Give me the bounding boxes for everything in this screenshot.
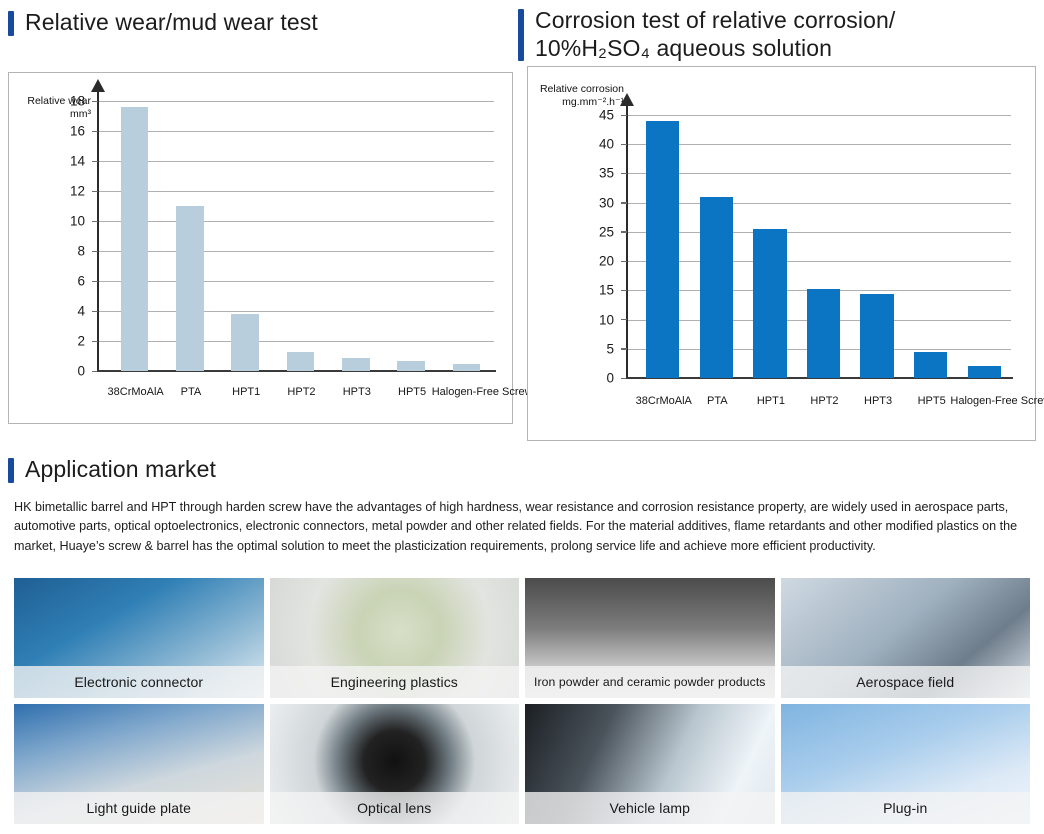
gridline [628,203,1011,204]
tile-caption: Optical lens [270,792,520,824]
gridline [99,281,494,282]
corrosion-section-heading: Corrosion test of relative corrosion/ 10… [518,6,1038,62]
y-tick-mark [621,115,627,116]
application-tile[interactable]: Engineering plastics [270,578,520,698]
y-axis-arrow-icon [620,93,634,106]
bar [453,364,481,371]
bar [342,358,370,372]
tile-caption: Plug-in [781,792,1031,824]
relative-corrosion-chart-panel: Relative corrosion mg.mm⁻².h⁻¹ 051015202… [527,66,1036,441]
accent-bar [518,9,524,61]
gridline [99,101,494,102]
y-tick-mark [621,144,627,145]
gridline [99,161,494,162]
y-tick-mark [92,341,98,342]
y-tick-label: 0 [77,364,85,379]
wear-section-heading: Relative wear/mud wear test [8,8,318,36]
bar [231,314,259,371]
bar [860,294,893,378]
y-tick-label: 14 [70,154,85,169]
wear-plot-area: 024681012141618 [97,101,494,371]
bar [807,289,840,378]
page-root: Relative wear/mud wear test Corrosion te… [0,0,1044,834]
gridline [99,341,494,342]
gridline [628,115,1011,116]
y-tick-mark [92,131,98,132]
tile-caption: Engineering plastics [270,666,520,698]
gridline [628,144,1011,145]
tile-caption: Light guide plate [14,792,264,824]
application-tile[interactable]: Plug-in [781,704,1031,824]
accent-bar [8,11,14,36]
y-tick-label: 10 [599,312,614,327]
y-tick-mark [621,173,627,174]
accent-bar [8,458,14,483]
application-tile-grid: Electronic connectorEngineering plastics… [14,578,1030,824]
bar [287,352,315,372]
corrosion-yaxis-label: Relative corrosion mg.mm⁻².h⁻¹ [528,83,624,109]
y-tick-mark [92,101,98,102]
y-tick-mark [92,221,98,222]
y-tick-label: 6 [77,274,85,289]
y-tick-mark [621,202,627,203]
relative-wear-chart-panel: Relative wear mm³ 024681012141618 38CrMo… [8,72,513,424]
corrosion-title-block: Corrosion test of relative corrosion/ 10… [535,6,895,62]
application-tile[interactable]: Electronic connector [14,578,264,698]
x-category-label: Halogen-Free Screw [432,386,503,398]
market-description: HK bimetallic barrel and HPT through har… [14,498,1032,556]
tile-caption: Vehicle lamp [525,792,775,824]
y-tick-label: 20 [599,254,614,269]
y-tick-mark [92,311,98,312]
gridline [99,251,494,252]
corrosion-title-line1: Corrosion test of relative corrosion/ [535,6,895,34]
x-category-label: Halogen-Free Screw [950,395,1020,407]
y-tick-mark [92,161,98,162]
gridline [99,131,494,132]
wear-title-text: Relative wear/mud wear test [25,8,318,36]
bar [397,361,425,371]
y-axis-arrow-icon [91,79,105,92]
gridline [628,261,1011,262]
y-tick-label: 10 [70,214,85,229]
y-tick-mark [621,261,627,262]
tile-caption: Electronic connector [14,666,264,698]
application-tile[interactable]: Iron powder and ceramic powder products [525,578,775,698]
y-tick-mark [92,191,98,192]
y-tick-mark [92,251,98,252]
bar [121,107,149,371]
y-tick-label: 16 [70,124,85,139]
y-tick-mark [621,348,627,349]
corrosion-title-line2: 10%H₂SO₄ aqueous solution [535,34,895,62]
y-tick-mark [621,231,627,232]
y-tick-mark [621,290,627,291]
y-tick-label: 18 [70,94,85,109]
tile-caption: Aerospace field [781,666,1031,698]
y-tick-label: 8 [77,244,85,259]
application-tile[interactable]: Optical lens [270,704,520,824]
application-tile[interactable]: Aerospace field [781,578,1031,698]
y-tick-label: 0 [606,371,614,386]
bar [646,121,679,378]
y-tick-label: 40 [599,137,614,152]
gridline [628,232,1011,233]
tile-caption: Iron powder and ceramic powder products [525,666,775,698]
y-axis-line [626,105,628,378]
market-section-heading: Application market [8,455,216,483]
y-tick-label: 15 [599,283,614,298]
y-tick-label: 35 [599,166,614,181]
gridline [99,191,494,192]
y-axis-line [97,91,99,371]
gridline [99,311,494,312]
y-tick-mark [92,281,98,282]
gridline [628,173,1011,174]
application-tile[interactable]: Light guide plate [14,704,264,824]
y-tick-label: 30 [599,195,614,210]
bar [753,229,786,378]
corrosion-plot-area: 051015202530354045 [626,115,1011,378]
gridline [99,221,494,222]
bar [914,352,947,378]
bar [968,366,1001,378]
application-tile[interactable]: Vehicle lamp [525,704,775,824]
y-tick-label: 5 [606,341,614,356]
y-tick-label: 2 [77,334,85,349]
bar [700,197,733,378]
y-tick-label: 4 [77,304,85,319]
bar [176,206,204,371]
y-tick-label: 12 [70,184,85,199]
market-title-text: Application market [25,455,216,483]
y-tick-label: 45 [599,108,614,123]
y-tick-label: 25 [599,224,614,239]
y-tick-mark [621,319,627,320]
